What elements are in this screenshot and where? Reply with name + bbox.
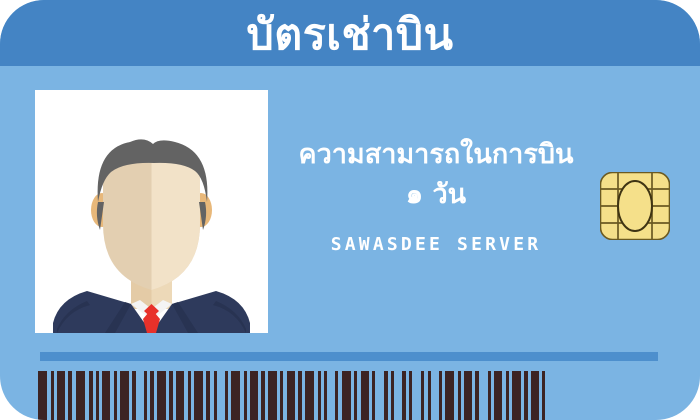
barcode-bar: [287, 371, 295, 420]
barcode-bar: [57, 371, 65, 420]
barcode-bar: [512, 371, 521, 420]
info-block: ความสามารถในการบิน ๑ วัน SAWASDEE SERVER: [281, 138, 591, 256]
card-header: บัตรเช่าบิน: [0, 0, 700, 66]
photo-frame: [35, 90, 268, 333]
barcode-bar: [76, 371, 85, 420]
barcode-bar: [268, 371, 277, 420]
barcode-bar: [545, 371, 554, 420]
barcode-bar: [445, 371, 454, 420]
barcode-bar: [342, 371, 351, 420]
smart-card-chip-icon: [600, 172, 670, 240]
id-card: บัตรเช่าบิน: [0, 0, 700, 420]
card-title: บัตรเช่าบิน: [246, 12, 453, 58]
barcode-bar: [361, 371, 369, 420]
barcode-bar: [38, 371, 47, 420]
barcode-bar: [194, 371, 203, 420]
barcode-bar: [176, 371, 184, 420]
barcode-bar: [231, 371, 240, 420]
barcode-bar: [431, 371, 439, 420]
barcode-bar: [375, 371, 384, 420]
barcode-bar: [157, 371, 166, 420]
barcode-bar: [394, 371, 402, 420]
barcode-bar: [217, 371, 225, 420]
avatar: [35, 90, 268, 333]
barcode-bar: [136, 371, 144, 420]
barcode-bar: [250, 371, 258, 420]
barcode-bar: [494, 371, 502, 420]
barcode-bar: [120, 371, 129, 420]
barcode-bar: [102, 371, 110, 420]
server-name: SAWASDEE SERVER: [281, 234, 591, 256]
barcode-bar: [464, 371, 472, 420]
ability-line: ความสามารถในการบิน: [281, 138, 591, 172]
magnetic-stripe: [40, 352, 658, 361]
screenshot-root: บัตรเช่าบิน: [0, 0, 700, 420]
barcode-bar: [327, 371, 335, 420]
barcode-bar: [412, 371, 421, 420]
barcode-bar: [305, 371, 314, 420]
barcode-bar: [479, 371, 488, 420]
barcode-bar: [531, 371, 539, 420]
barcode: [38, 371, 662, 420]
duration-line: ๑ วัน: [281, 178, 591, 212]
